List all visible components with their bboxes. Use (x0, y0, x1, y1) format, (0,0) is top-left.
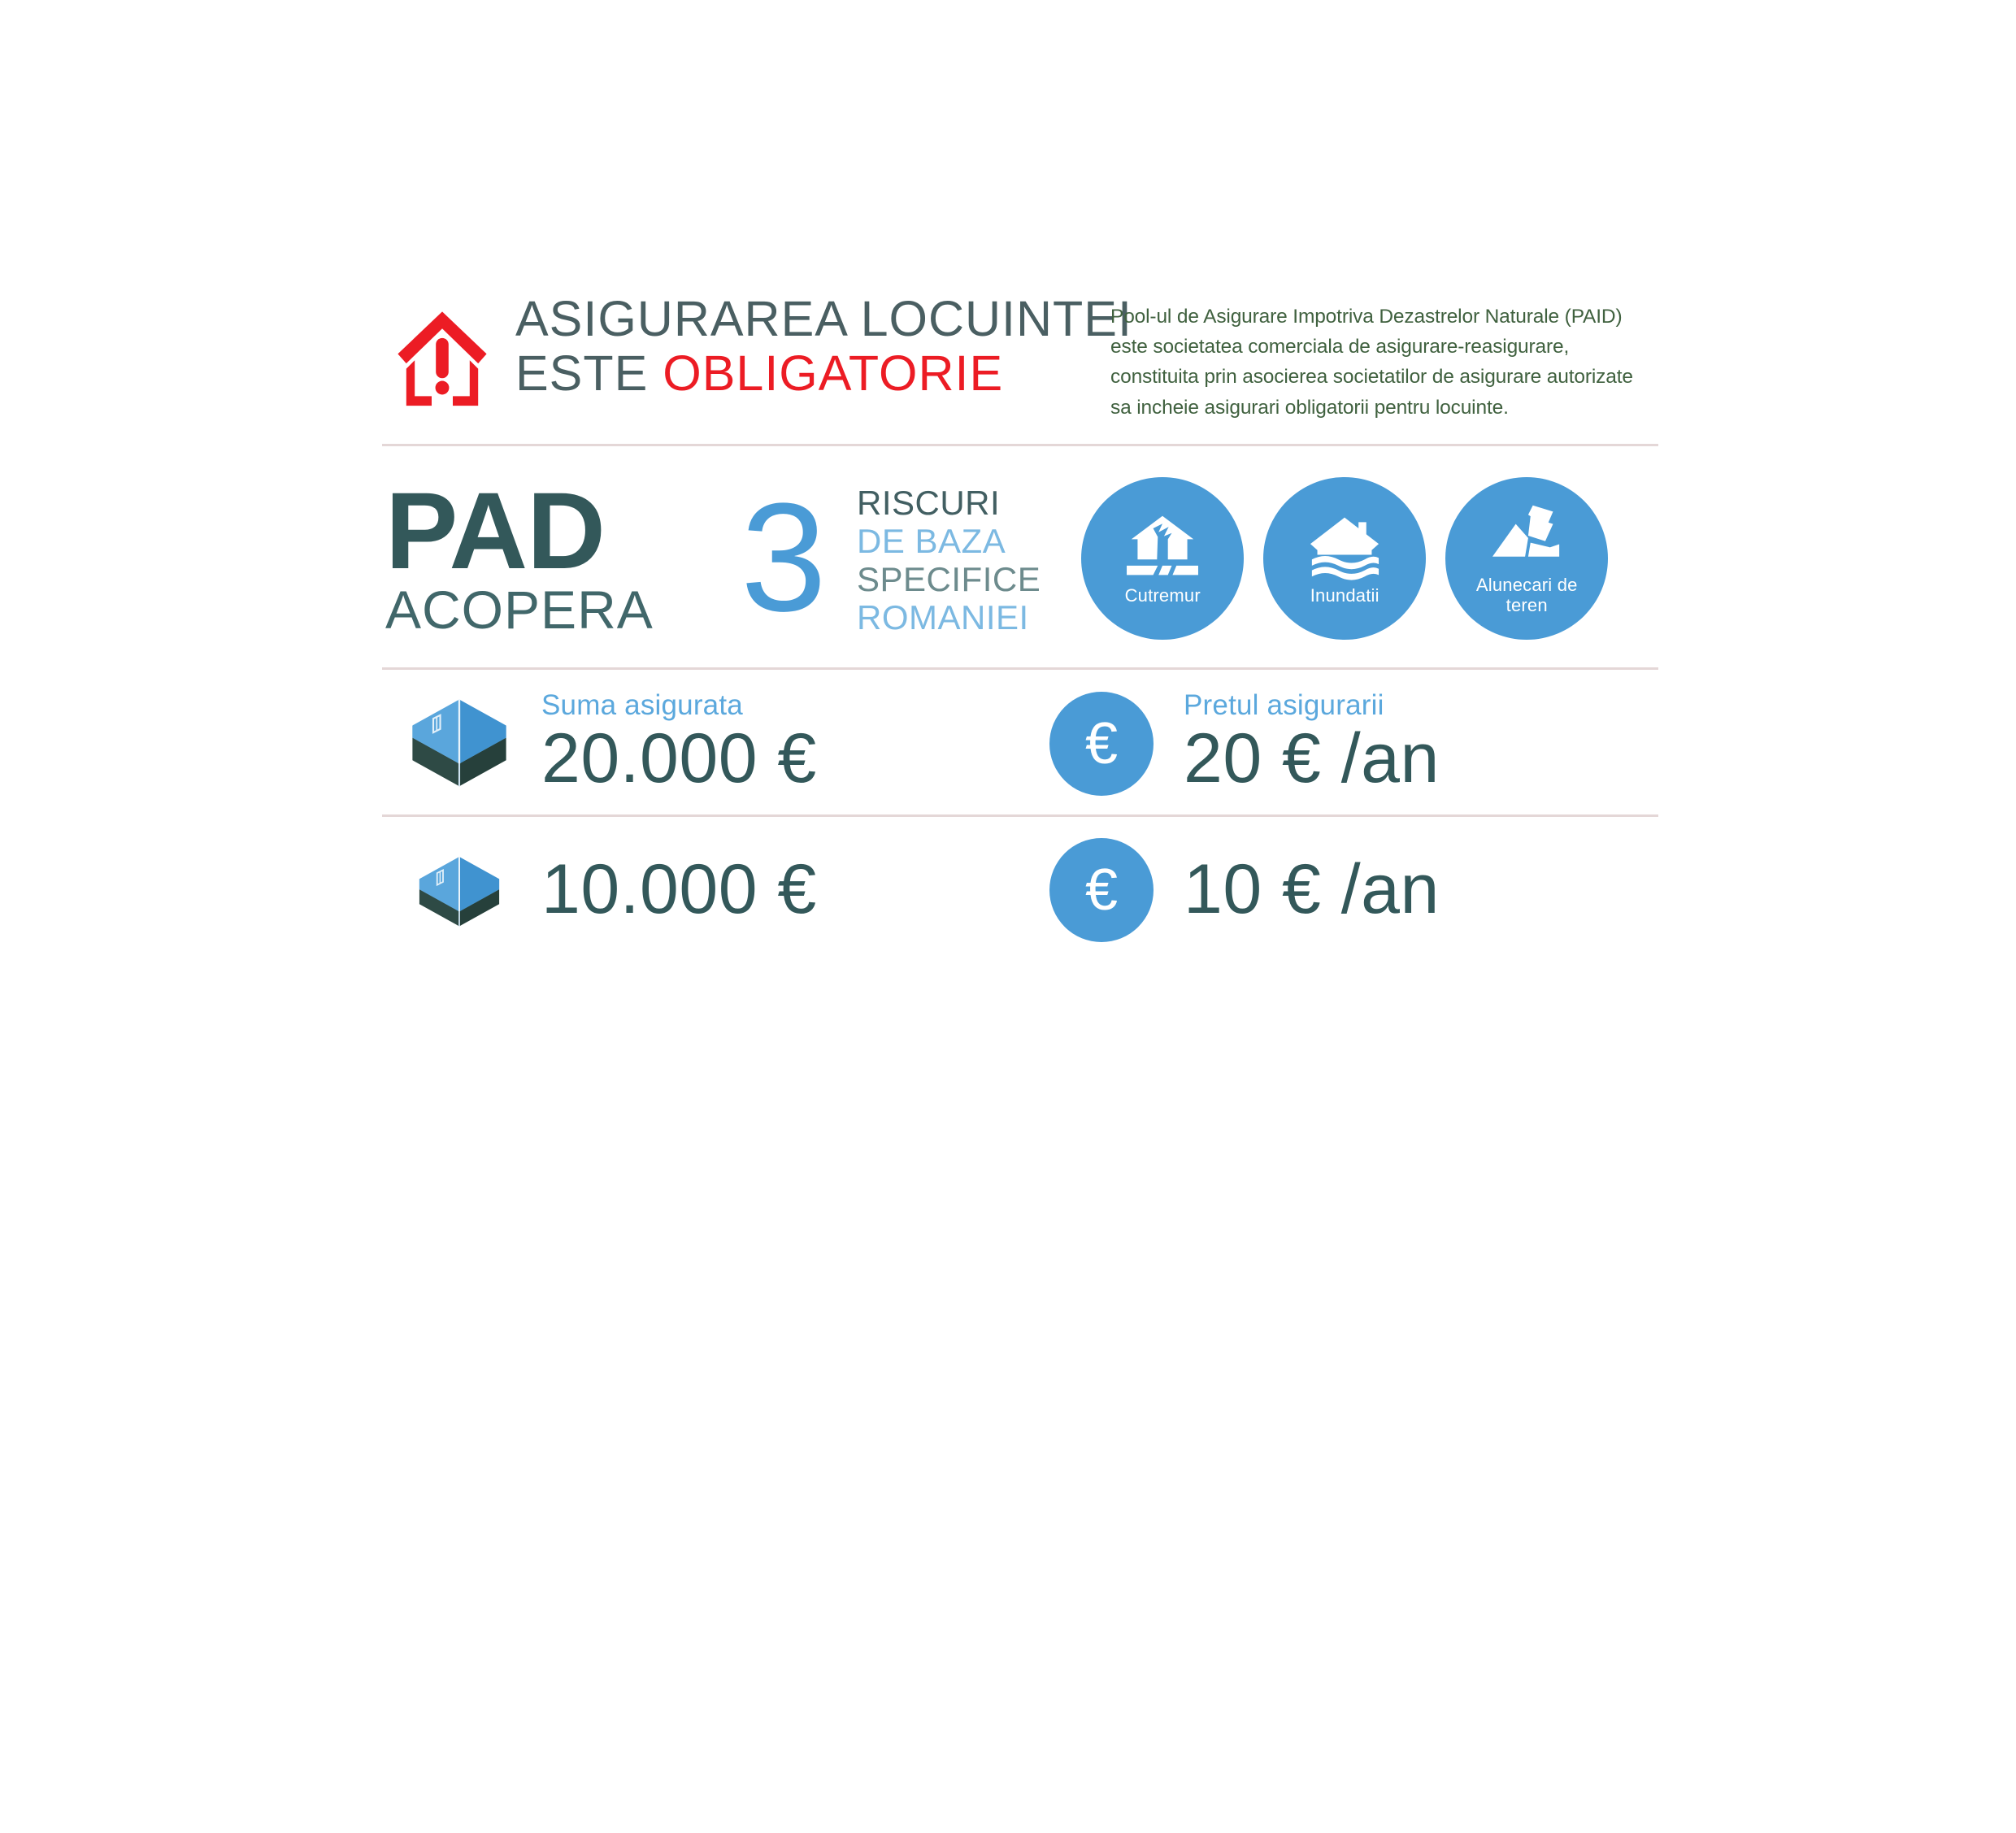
pad-brand-subtitle: ACOPERA (385, 584, 727, 636)
house-3d-large-icon (382, 696, 537, 792)
pad-coverage-section: PAD ACOPERA 3 RISCURI DE BAZA SPECIFICE … (382, 446, 1658, 667)
risk-label-inundatii: Inundatii (1310, 586, 1379, 606)
riscuri-line-4: ROMANIEI (857, 598, 1041, 636)
sum-text-10000: 10.000 € (537, 852, 817, 927)
landslide-house-icon (1488, 501, 1566, 571)
riscuri-text-stack: RISCURI DE BAZA SPECIFICE ROMANIEI (857, 480, 1041, 636)
risk-circle-inundatii[interactable]: Inundatii (1263, 477, 1426, 640)
pad-brand: PAD (385, 481, 727, 581)
headline-line-1: ASIGURAREA LOCUINTEI (515, 292, 1099, 346)
intro-paragraph: Pool-ul de Asigurare Impotriva Dezastrel… (1099, 289, 1658, 423)
price-cell-10: € 10 € /an (1024, 838, 1658, 942)
risk-label-cutremur: Cutremur (1125, 586, 1201, 606)
price-label: Pretul asigurarii (1184, 691, 1440, 719)
euro-circle-icon: € (1049, 692, 1154, 796)
headline-word-este: ESTE (515, 345, 663, 401)
headline: ASIGURAREA LOCUINTEI ESTE OBLIGATORIE (515, 289, 1099, 401)
risk-label-alunecari: Alunecari de teren (1466, 576, 1588, 615)
sum-text-20000: Suma asigurata 20.000 € (537, 691, 817, 797)
house-warning-icon (382, 303, 502, 413)
euro-circle-icon: € (1049, 838, 1154, 942)
riscuri-line-1: RISCURI (857, 484, 1041, 522)
euro-circle-icon-wrap: € (1024, 692, 1179, 796)
header-section: ASIGURAREA LOCUINTEI ESTE OBLIGATORIE Po… (382, 289, 1658, 444)
headline-line-2: ESTE OBLIGATORIE (515, 346, 1099, 401)
headline-word-obligatorie: OBLIGATORIE (663, 345, 1003, 401)
house-3d-small-icon (382, 849, 537, 931)
price-value-10: 10 € /an (1184, 852, 1440, 927)
riscuri-line-2: DE BAZA (857, 522, 1041, 560)
risk-count-number: 3 (735, 495, 832, 622)
risk-circle-alunecari[interactable]: Alunecari de teren (1445, 477, 1608, 640)
riscuri-line-3: SPECIFICE (857, 560, 1041, 598)
flood-house-icon (1306, 511, 1384, 581)
sum-label: Suma asigurata (541, 691, 817, 719)
sum-cell-10000: 10.000 € (382, 849, 1024, 931)
sum-value-20000: 20.000 € (541, 721, 817, 797)
pad-brand-lockup: PAD ACOPERA (382, 481, 727, 636)
price-text-10: 10 € /an (1179, 852, 1440, 927)
price-row-10000: 10.000 € € 10 € /an (382, 817, 1658, 960)
sum-cell-20000: Suma asigurata 20.000 € (382, 691, 1024, 797)
risk-circle-cutremur[interactable]: Cutremur (1081, 477, 1244, 640)
price-row-20000: Suma asigurata 20.000 € € Pretul asigura… (382, 670, 1658, 814)
earthquake-house-icon (1123, 511, 1201, 581)
price-cell-20: € Pretul asigurarii 20 € /an (1024, 691, 1658, 797)
euro-circle-icon-wrap-2: € (1024, 838, 1179, 942)
price-text-20: Pretul asigurarii 20 € /an (1179, 691, 1440, 797)
price-value-20: 20 € /an (1184, 721, 1440, 797)
intro-paragraph-text: Pool-ul de Asigurare Impotriva Dezastrel… (1110, 302, 1658, 423)
sum-value-10000: 10.000 € (541, 852, 817, 927)
infographic-poster: ASIGURAREA LOCUINTEI ESTE OBLIGATORIE Po… (382, 289, 1658, 960)
risk-circles-group: Cutremur Inundatii Alunecar (1081, 477, 1608, 640)
